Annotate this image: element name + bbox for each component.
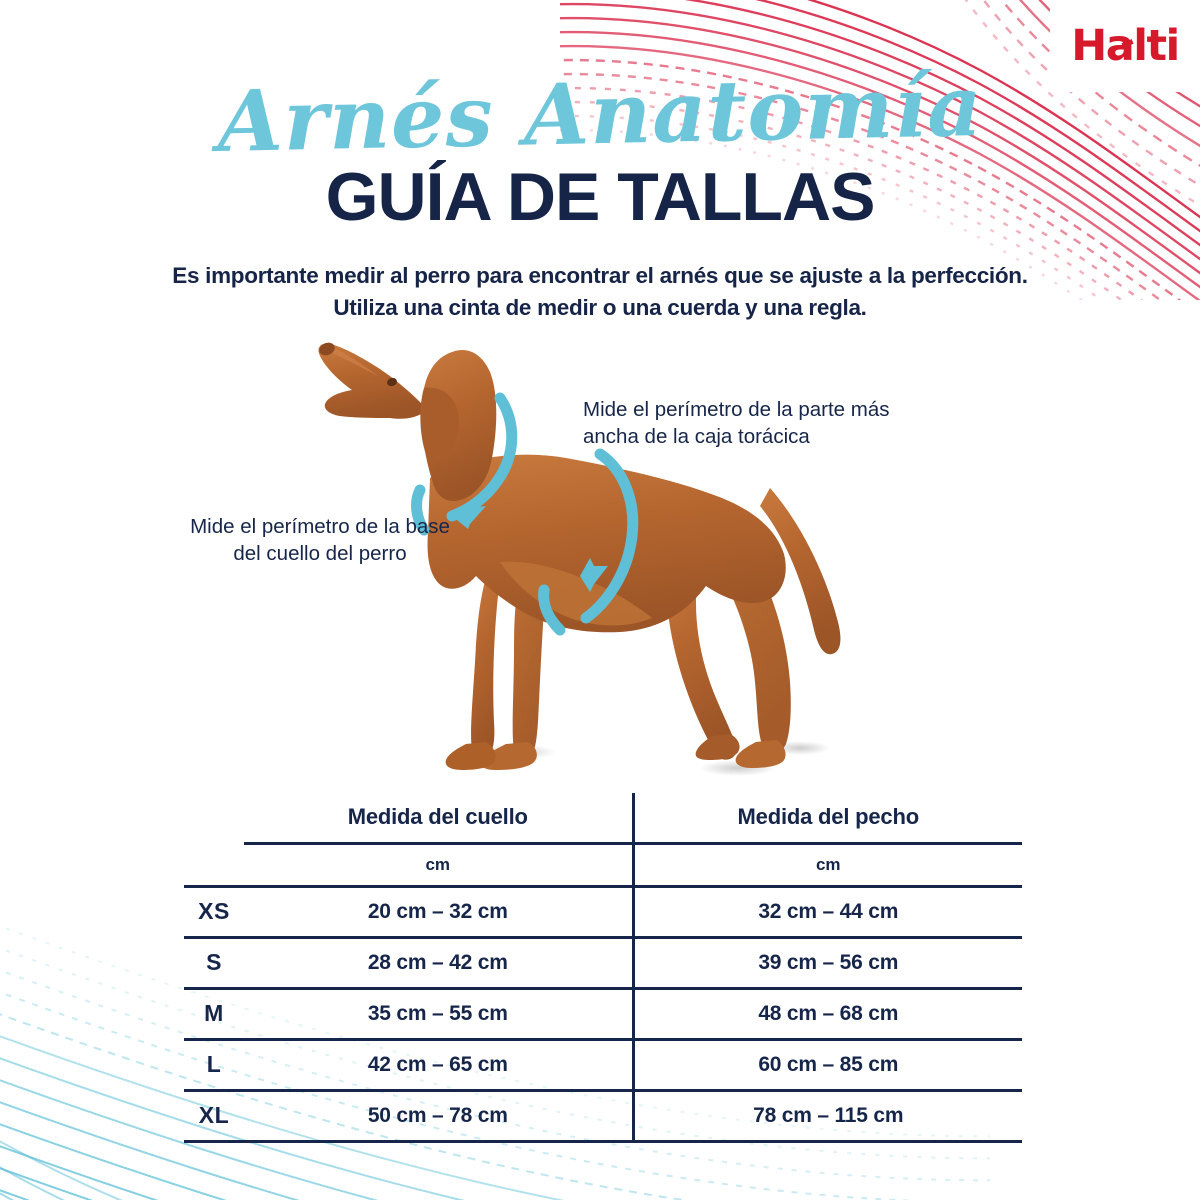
unit-blank [184,843,244,886]
table-group-header-row: Medida del cuello Medida del pecho [184,793,1022,843]
row-chest-value: 78 cm – 115 cm [633,1090,1022,1141]
row-chest-value: 60 cm – 85 cm [633,1039,1022,1090]
row-chest-value: 39 cm – 56 cm [633,937,1022,988]
size-guide-poster: Halti Arnés Anatomía GUÍA DE TALLAS Es i… [0,0,1200,1200]
row-size-label: XL [184,1090,244,1141]
row-chest-value: 32 cm – 44 cm [633,886,1022,937]
row-neck-value: 42 cm – 65 cm [244,1039,633,1090]
row-neck-value: 50 cm – 78 cm [244,1090,633,1141]
dog-illustration: Mide el perímetro de la parte más ancha … [0,330,1200,790]
group-header-chest: Medida del pecho [633,793,1022,843]
page-title: GUÍA DE TALLAS [0,163,1200,231]
intro-line-1: Es importante medir al perro para encont… [0,260,1200,292]
row-size-label: L [184,1039,244,1090]
callout-chest-measurement: Mide el perímetro de la parte más ancha … [583,396,913,450]
row-size-label: M [184,988,244,1039]
row-size-label: XS [184,886,244,937]
row-size-label: S [184,937,244,988]
size-chart-table: Medida del cuello Medida del pecho cm cm… [184,793,1022,1143]
size-table: Medida del cuello Medida del pecho cm cm… [184,793,1022,1141]
row-neck-value: 20 cm – 32 cm [244,886,633,937]
unit-chest: cm [633,843,1022,886]
row-chest-value: 48 cm – 68 cm [633,988,1022,1039]
table-row: XS 20 cm – 32 cm 32 cm – 44 cm [184,886,1022,937]
intro-line-2: Utiliza una cinta de medir o una cuerda … [0,292,1200,324]
table-row: M 35 cm – 55 cm 48 cm – 68 cm [184,988,1022,1039]
script-title: Arnés Anatomía [0,59,1200,168]
intro-text: Es importante medir al perro para encont… [0,260,1200,324]
table-row: XL 50 cm – 78 cm 78 cm – 115 cm [184,1090,1022,1141]
table-row: S 28 cm – 42 cm 39 cm – 56 cm [184,937,1022,988]
group-header-blank [184,793,244,843]
group-header-neck: Medida del cuello [244,793,633,843]
row-neck-value: 35 cm – 55 cm [244,988,633,1039]
table-row: L 42 cm – 65 cm 60 cm – 85 cm [184,1039,1022,1090]
brand-logo: Halti [1050,0,1200,92]
brand-wordmark: Halti [1071,25,1179,68]
unit-neck: cm [244,843,633,886]
table-unit-row: cm cm [184,843,1022,886]
row-neck-value: 28 cm – 42 cm [244,937,633,988]
callout-neck-measurement: Mide el perímetro de la base del cuello … [186,513,454,567]
